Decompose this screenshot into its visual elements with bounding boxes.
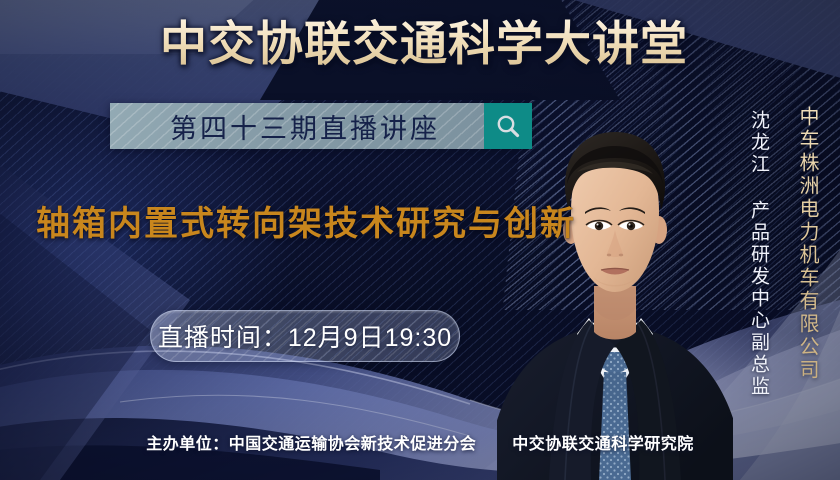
lecture-title: 轴箱内置式转向架技术研究与创新 bbox=[36, 196, 576, 245]
speaker-portrait bbox=[497, 80, 733, 480]
header-title: 中交协联交通科学大讲堂 bbox=[0, 16, 840, 71]
footer-organizer: 主办单位：中国交通运输协会新技术促进分会 bbox=[146, 436, 476, 453]
search-icon-container[interactable] bbox=[484, 103, 532, 149]
live-time-badge: 直播时间：12月9日19:30 bbox=[150, 310, 460, 362]
speaker-name-title: 沈龙江 产品研发中心副总监 bbox=[745, 110, 772, 398]
subtitle-bar[interactable]: 第四十三期直播讲座 bbox=[110, 103, 532, 149]
subtitle-label: 第四十三期直播讲座 bbox=[110, 103, 484, 149]
footer-organizers: 主办单位：中国交通运输协会新技术促进分会 中交协联交通科学研究院 bbox=[0, 430, 840, 454]
speaker-company: 中车株洲电力机车有限公司 bbox=[793, 106, 822, 382]
webinar-poster: 中交协联交通科学大讲堂 中交协联交通科学大讲堂 第四十三期直播讲座 轴箱内置式转… bbox=[0, 0, 840, 480]
live-time-text: 直播时间：12月9日19:30 bbox=[158, 318, 452, 354]
search-icon bbox=[495, 113, 521, 139]
footer-co-organizer: 中交协联交通科学研究院 bbox=[512, 436, 694, 453]
